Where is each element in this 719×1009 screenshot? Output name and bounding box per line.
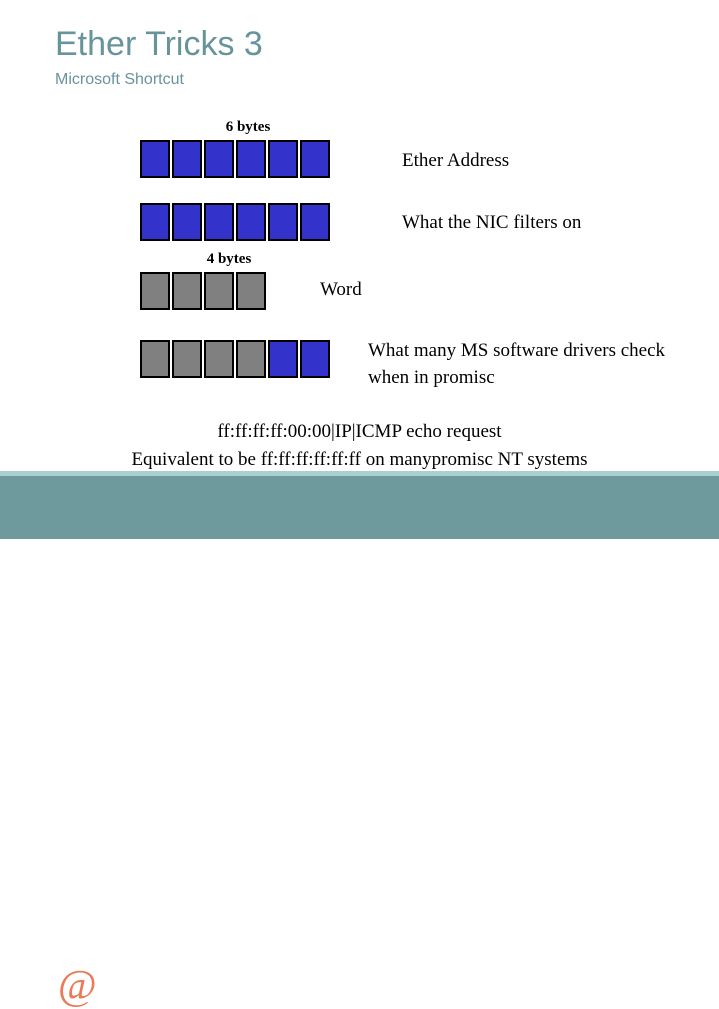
brand-tagline-text: Securing the Internet Economy — [424, 979, 650, 998]
byte-cell — [300, 340, 330, 378]
byte-cell — [268, 140, 298, 178]
byte-cell — [140, 272, 170, 310]
byte-cell — [236, 340, 266, 378]
example-line-2: Equivalent to be ff:ff:ff:ff:ff:ff on ma… — [0, 446, 719, 474]
title-block: Ether Tricks 3 Microsoft Shortcut — [55, 24, 675, 90]
brand-tagline: Securing the Internet Economy™ — [424, 974, 659, 1000]
ether-address-row — [140, 140, 330, 178]
byte-cell — [236, 140, 266, 178]
byte-cell — [204, 340, 234, 378]
byte-cell — [172, 140, 202, 178]
byte-cell — [204, 140, 234, 178]
brand-logo: @stake — [58, 963, 178, 1009]
byte-cell — [300, 203, 330, 241]
trademark-icon: ™ — [650, 979, 659, 990]
byte-cell — [172, 272, 202, 310]
annotation-word: Word — [320, 276, 362, 303]
slide-canvas: Ether Tricks 3 Microsoft Shortcut 6 byte… — [0, 0, 719, 539]
footer-band: @stake Securing the Internet Economy™ — [0, 476, 719, 539]
byte-cell — [204, 203, 234, 241]
annotation-ether-address: Ether Address — [402, 147, 509, 174]
caption-six-bytes: 6 bytes — [140, 119, 356, 136]
byte-cell — [140, 340, 170, 378]
example-line-1: ff:ff:ff:ff:00:00|IP|ICMP echo request — [0, 418, 719, 446]
byte-cell — [268, 203, 298, 241]
byte-cell — [300, 140, 330, 178]
byte-cell — [140, 203, 170, 241]
page-subtitle: Microsoft Shortcut — [55, 64, 675, 90]
byte-cell — [172, 203, 202, 241]
byte-cell — [140, 140, 170, 178]
annotation-ms-drivers: What many MS software drivers check when… — [368, 337, 698, 391]
example-block: ff:ff:ff:ff:00:00|IP|ICMP echo request E… — [0, 418, 719, 474]
brand-name: stake — [97, 963, 178, 1009]
page-title: Ether Tricks 3 — [55, 24, 675, 64]
byte-cell — [204, 272, 234, 310]
nic-filter-row — [140, 203, 330, 241]
caption-four-bytes: 4 bytes — [140, 251, 318, 268]
byte-cell — [236, 272, 266, 310]
word-row — [140, 272, 266, 310]
at-sign-icon: @ — [58, 963, 97, 1009]
byte-cell — [236, 203, 266, 241]
promisc-row — [140, 340, 330, 378]
byte-cell — [268, 340, 298, 378]
annotation-nic-filter: What the NIC filters on — [402, 209, 581, 236]
byte-cell — [172, 340, 202, 378]
